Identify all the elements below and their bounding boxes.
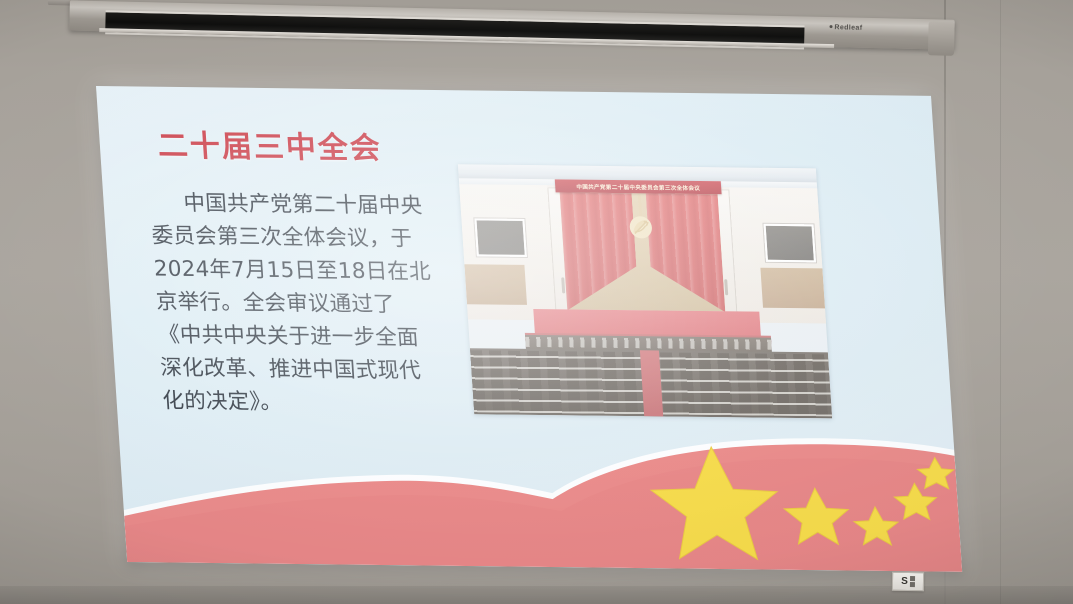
- room-vignette: [0, 0, 1073, 604]
- screenshot-root: Redleaf 二十届三中全会 中国共产党第二十届中央委员会第三次全体会议，于2…: [0, 0, 1073, 604]
- wall-sticker: S: [892, 572, 924, 592]
- sticker-glyph: S: [901, 576, 908, 586]
- sticker-qr-blocks: [910, 576, 915, 587]
